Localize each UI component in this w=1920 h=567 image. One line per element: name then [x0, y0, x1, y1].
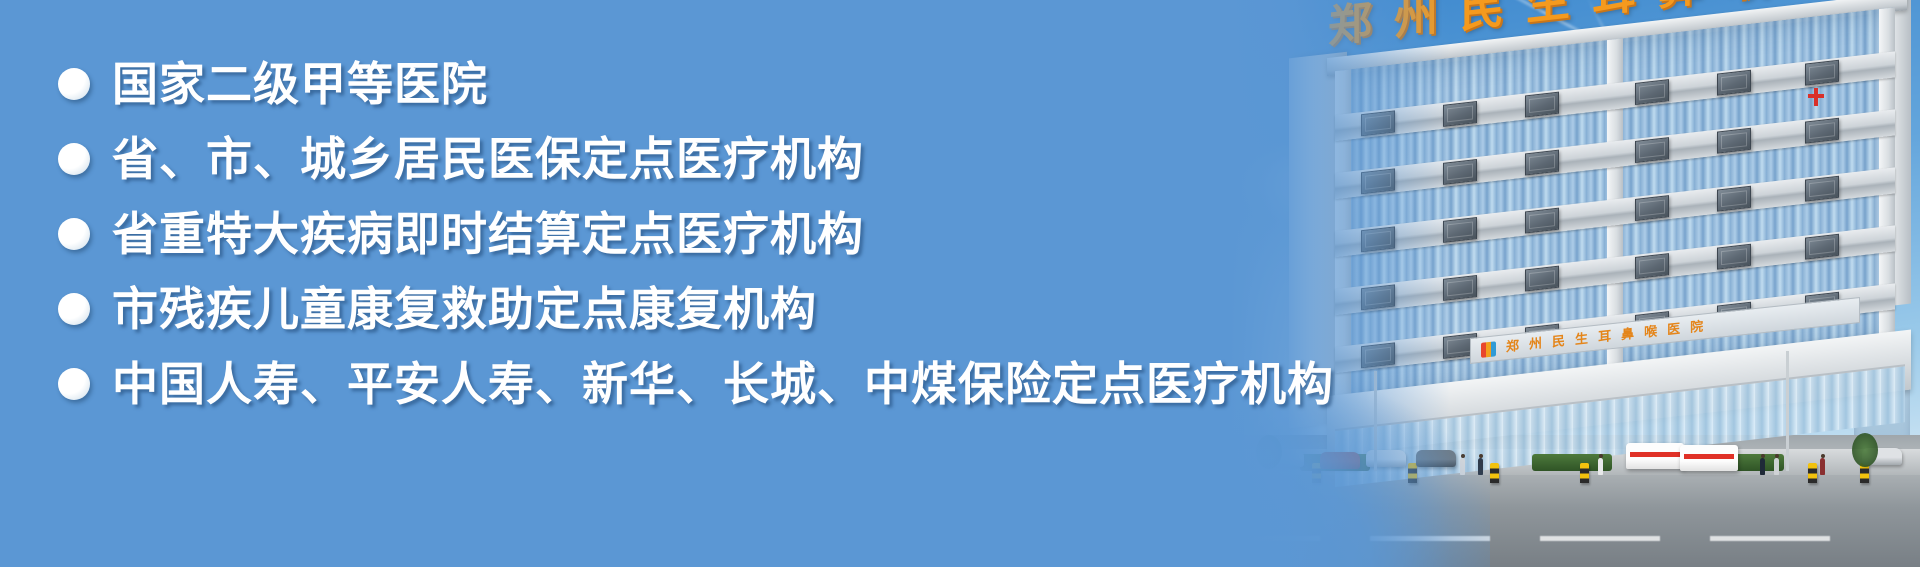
- pedestrian: [1760, 458, 1765, 475]
- list-item: 省、市、城乡居民医保定点医疗机构: [58, 121, 1298, 196]
- list-item-label: 市残疾儿童康复救助定点康复机构: [112, 286, 817, 332]
- list-item-label: 国家二级甲等医院: [112, 61, 488, 107]
- list-item: 中国人寿、平安人寿、新华、长城、中煤保险定点医疗机构: [58, 346, 1298, 421]
- ac-unit: [1717, 128, 1751, 154]
- ac-unit: [1635, 195, 1669, 221]
- ac-unit: [1717, 244, 1751, 270]
- filled-circle-bullet-icon: [58, 368, 90, 400]
- list-item-label: 中国人寿、平安人寿、新华、长城、中煤保险定点医疗机构: [112, 361, 1334, 407]
- entrance-sign-char: 鼻: [1621, 327, 1634, 341]
- ac-unit: [1525, 92, 1559, 118]
- traffic-bollard: [1490, 463, 1499, 483]
- entrance-sign-char: 医: [1667, 322, 1680, 336]
- entrance-sign-char: 郑: [1506, 339, 1519, 353]
- entrance-sign-char: 州: [1529, 337, 1542, 351]
- entrance-sign-char: 喉: [1644, 325, 1657, 339]
- ambulance: [1626, 443, 1684, 469]
- traffic-bollard: [1580, 463, 1589, 483]
- entrance-sign-char: 生: [1575, 332, 1588, 346]
- pedestrian: [1774, 458, 1779, 475]
- ambulance: [1680, 445, 1738, 471]
- credentials-list: 国家二级甲等医院 省、市、城乡居民医保定点医疗机构 省重特大疾病即时结算定点医疗…: [58, 46, 1298, 421]
- traffic-bollard: [1808, 463, 1817, 483]
- rooftop-sign-char: 鼻: [1658, 0, 1702, 13]
- list-item-label: 省、市、城乡居民医保定点医疗机构: [112, 136, 864, 182]
- ac-unit: [1805, 234, 1839, 260]
- filled-circle-bullet-icon: [58, 218, 90, 250]
- filled-circle-bullet-icon: [58, 143, 90, 175]
- entrance-sign-char: 民: [1552, 335, 1565, 349]
- ac-unit: [1635, 253, 1669, 279]
- ac-unit: [1717, 186, 1751, 212]
- ac-unit: [1525, 266, 1559, 292]
- list-item: 市残疾儿童康复救助定点康复机构: [58, 271, 1298, 346]
- ac-unit: [1805, 176, 1839, 202]
- ac-unit: [1805, 60, 1839, 86]
- pedestrian: [1820, 458, 1825, 475]
- rooftop-sign-char: 民: [1460, 0, 1504, 35]
- ac-unit: [1525, 150, 1559, 176]
- list-item-label: 省重特大疾病即时结算定点医疗机构: [112, 211, 864, 257]
- entrance-sign-char: 院: [1690, 320, 1703, 334]
- rooftop-sign-char: 耳: [1592, 0, 1636, 20]
- rooftop-sign-char: 生: [1526, 0, 1570, 28]
- list-item: 省重特大疾病即时结算定点医疗机构: [58, 196, 1298, 271]
- lane-marking: [1540, 536, 1660, 541]
- ac-unit: [1525, 208, 1559, 234]
- list-item: 国家二级甲等医院: [58, 46, 1298, 121]
- ac-unit: [1635, 137, 1669, 163]
- filled-circle-bullet-icon: [58, 68, 90, 100]
- red-cross-icon: [1808, 88, 1824, 106]
- tri-color-logo-icon: [1481, 341, 1496, 358]
- hospital-credentials-banner: 郑 州 民 生 耳 鼻 喉 医 院 郑 州 民 生 耳 鼻 喉 医 院: [0, 0, 1920, 567]
- entrance-sign-char: 耳: [1598, 330, 1611, 344]
- filled-circle-bullet-icon: [58, 293, 90, 325]
- light-pole: [1786, 351, 1789, 471]
- ac-unit: [1717, 70, 1751, 96]
- lane-marking: [1710, 536, 1830, 541]
- ac-unit: [1635, 79, 1669, 105]
- tree: [1852, 433, 1878, 467]
- ac-unit: [1805, 118, 1839, 144]
- pedestrian: [1598, 458, 1603, 475]
